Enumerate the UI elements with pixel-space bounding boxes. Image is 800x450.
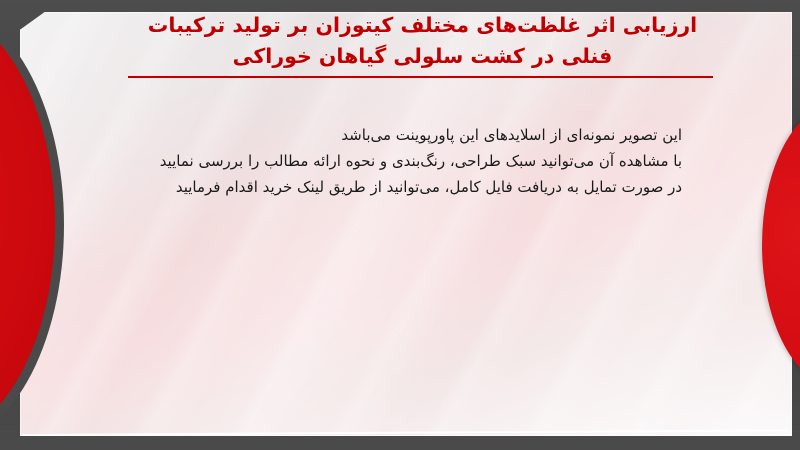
slide-body-line-1: این تصویر نمونه‌ای از اسلایدهای این پاور… [107,122,682,148]
slide-body-text: این تصویر نمونه‌ای از اسلایدهای این پاور… [107,122,682,200]
title-underline-rule [128,76,713,78]
slide-body-line-3: در صورت تمایل به دریافت فایل کامل، می‌تو… [107,174,682,200]
slide-title: ارزیابی اثر غلظت‌های مختلف کیتوزان بر تو… [130,10,715,72]
slide-title-line-2: فنلی در کشت سلولی گیاهان خوراکی [130,41,715,72]
slide-body-line-2: با مشاهده آن می‌توانید سبک طراحی، رنگ‌بن… [107,148,682,174]
slide-title-line-1: ارزیابی اثر غلظت‌های مختلف کیتوزان بر تو… [130,10,715,41]
presentation-slide: ارزیابی اثر غلظت‌های مختلف کیتوزان بر تو… [0,0,800,450]
